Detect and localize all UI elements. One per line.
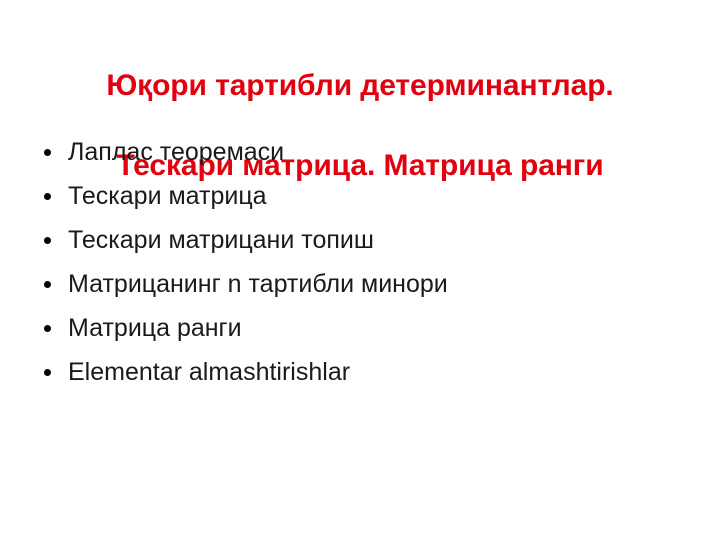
list-item-label: Матрицанинг n тартибли минори	[68, 262, 448, 306]
bullet-dot-icon	[44, 325, 51, 332]
list-item-label: Elementar almashtirishlar	[68, 350, 350, 394]
slide-bullet-list: Лаплас теоремаси Тескари матрица Тескари…	[38, 130, 698, 394]
list-item-label: Лаплас теоремаси	[68, 130, 284, 174]
list-item-label: Матрица ранги	[68, 306, 242, 350]
bullet-dot-icon	[44, 237, 51, 244]
list-item: Лаплас теоремаси	[38, 130, 698, 174]
bullet-dot-icon	[44, 369, 51, 376]
bullet-dot-icon	[44, 193, 51, 200]
list-item: Elementar almashtirishlar	[38, 350, 698, 394]
list-item-label: Тескари матрицани топиш	[68, 218, 374, 262]
list-item: Тескари матрица	[38, 174, 698, 218]
list-item: Матрица ранги	[38, 306, 698, 350]
list-item-label: Тескари матрица	[68, 174, 267, 218]
list-item: Матрицанинг n тартибли минори	[38, 262, 698, 306]
slide-canvas: Юқори тартибли детерминантлар. Тескари м…	[0, 0, 720, 540]
list-item: Тескари матрицани топиш	[38, 218, 698, 262]
slide-title-line-1: Юқори тартибли детерминантлар.	[24, 66, 696, 106]
bullet-dot-icon	[44, 281, 51, 288]
bullet-dot-icon	[44, 149, 51, 156]
